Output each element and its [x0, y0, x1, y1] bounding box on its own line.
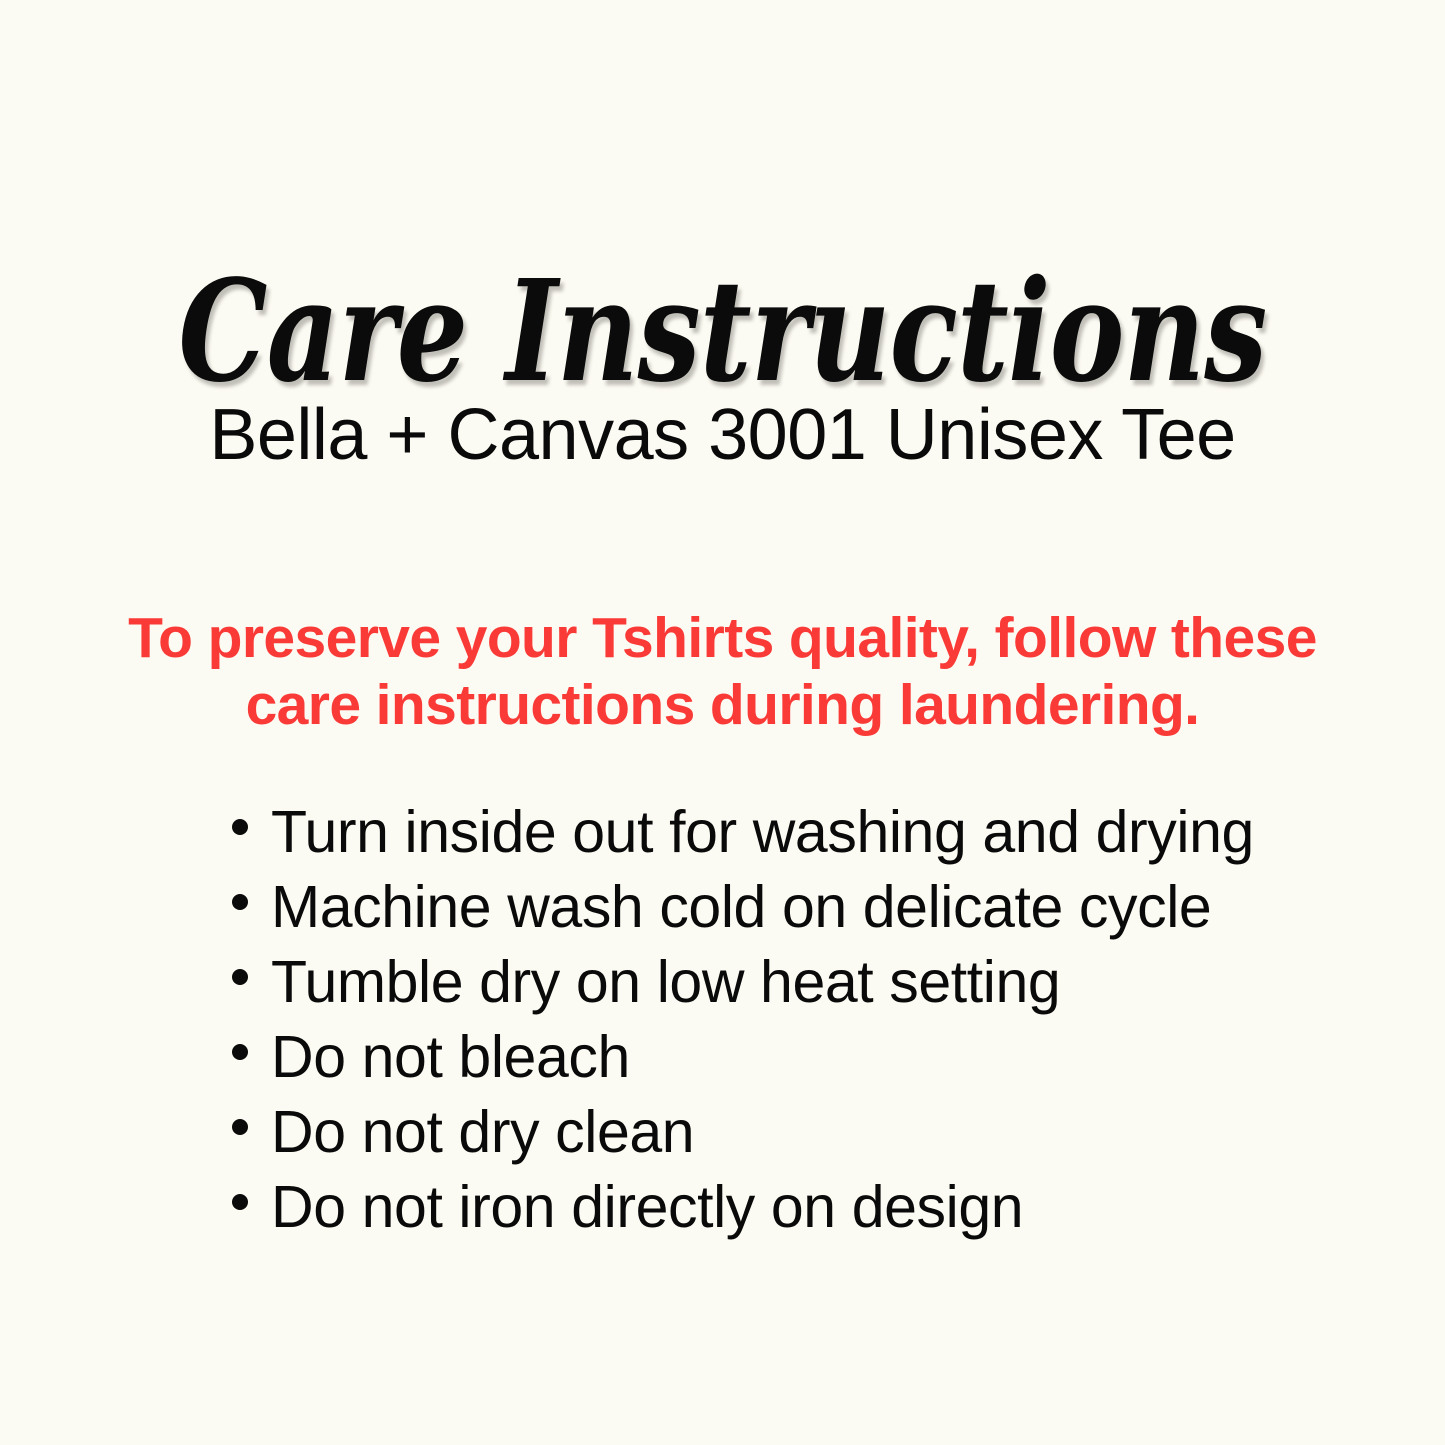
list-item: Turn inside out for washing and drying: [0, 795, 1445, 870]
bullet-dot-icon: [232, 969, 248, 985]
care-item-label: Machine wash cold on delicate cycle: [271, 870, 1211, 945]
bullet-dot-icon: [232, 819, 248, 835]
bullet-dot-icon: [232, 1119, 248, 1135]
highlight-line-1: To preserve your Tshirts quality, follow…: [60, 605, 1385, 672]
list-item: Do not iron directly on design: [0, 1170, 1445, 1245]
list-item: Machine wash cold on delicate cycle: [0, 870, 1445, 945]
page-title: Care Instructions: [145, 262, 1301, 402]
highlight-line-2: care instructions during laundering.: [60, 672, 1385, 739]
bullet-dot-icon: [232, 894, 248, 910]
highlight-message: To preserve your Tshirts quality, follow…: [60, 605, 1385, 740]
care-item-label: Do not bleach: [271, 1020, 630, 1095]
list-item: Tumble dry on low heat setting: [0, 945, 1445, 1020]
care-instructions-list: Turn inside out for washing and drying M…: [0, 795, 1445, 1245]
care-item-label: Tumble dry on low heat setting: [271, 945, 1060, 1020]
care-item-label: Do not dry clean: [271, 1095, 694, 1170]
list-item: Do not dry clean: [0, 1095, 1445, 1170]
care-instructions-card: Care Instructions Bella + Canvas 3001 Un…: [0, 0, 1445, 1445]
bullet-dot-icon: [232, 1044, 248, 1060]
care-item-label: Do not iron directly on design: [271, 1170, 1023, 1245]
bullet-dot-icon: [232, 1194, 248, 1210]
product-name: Bella + Canvas 3001 Unisex Tee: [0, 398, 1445, 474]
care-item-label: Turn inside out for washing and drying: [271, 795, 1254, 870]
list-item: Do not bleach: [0, 1020, 1445, 1095]
